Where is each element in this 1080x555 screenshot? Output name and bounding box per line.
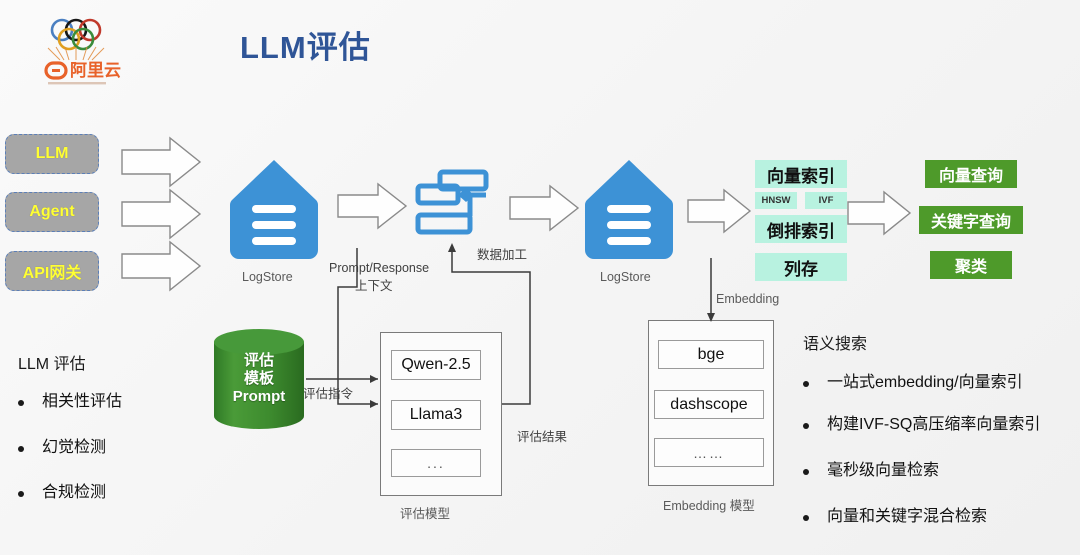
- arrow-to-logstore-out-icon: [508, 184, 580, 232]
- index-box-vector[interactable]: 向量索引: [755, 160, 847, 188]
- embedding-model-item-more[interactable]: ……: [654, 438, 764, 467]
- semantic-search-bullet-0: 一站式embedding/向量索引: [803, 373, 1023, 392]
- context-label: 上下文: [355, 275, 393, 294]
- index-sub-label: HNSW: [761, 195, 790, 206]
- query-box-keyword-search[interactable]: 关键字查询: [919, 206, 1023, 234]
- source-label: LLM: [36, 145, 69, 163]
- eval-model-label: Llama3: [410, 406, 462, 424]
- llm-eval-bullet-text: 合规检测: [42, 483, 106, 502]
- query-label: 关键字查询: [931, 208, 1011, 232]
- index-label: 列存: [784, 255, 818, 280]
- index-sub-box-ivf[interactable]: IVF: [805, 192, 847, 209]
- arrow-to-indexes-icon: [686, 188, 752, 234]
- logstore-in-house-icon: [228, 158, 320, 262]
- arrow-to-queries-icon: [846, 190, 912, 236]
- bullet-dot-icon: [18, 491, 24, 497]
- bullet-dot-icon: [803, 381, 809, 387]
- bullet-dot-icon: [803, 515, 809, 521]
- bullet-dot-icon: [803, 423, 809, 429]
- bullet-dot-icon: [18, 446, 24, 452]
- semantic-search-bullet-text: 毫秒级向量检索: [827, 461, 939, 480]
- page-title: LLM评估: [240, 22, 371, 67]
- semantic-search-heading: 语义搜索: [803, 330, 867, 354]
- eval-instruction-label: 评估指令: [303, 383, 353, 402]
- index-box-inverted[interactable]: 倒排索引: [755, 215, 847, 243]
- data-processing-icon: [412, 168, 492, 245]
- embedding-model-label: dashscope: [670, 396, 747, 414]
- eval-model-item-qwen[interactable]: Qwen-2.5: [391, 350, 481, 380]
- source-label: API网关: [23, 259, 82, 283]
- embedding-model-label: bge: [698, 346, 725, 364]
- bullet-dot-icon: [803, 469, 809, 475]
- llm-eval-bullet-text: 相关性评估: [42, 392, 122, 411]
- embedding-label: Embedding: [716, 292, 779, 306]
- embedding-model-item-bge[interactable]: bge: [658, 340, 764, 369]
- source-box-agent[interactable]: Agent: [5, 192, 99, 232]
- llm-eval-heading: LLM 评估: [18, 350, 86, 374]
- semantic-search-bullet-text: 向量和关键字混合检索: [827, 507, 987, 526]
- source-box-llm[interactable]: LLM: [5, 134, 99, 174]
- source-label: Agent: [29, 203, 74, 221]
- semantic-search-bullet-1: 构建IVF-SQ高压缩率向量索引: [803, 415, 1040, 434]
- ingress-arrow-3-icon: [120, 240, 202, 292]
- semantic-search-bullet-text: 构建IVF-SQ高压缩率向量索引: [827, 415, 1040, 434]
- svg-text:阿里云: 阿里云: [70, 61, 121, 81]
- eval-model-label: Qwen-2.5: [401, 356, 470, 374]
- eval-result-label: 评估结果: [517, 426, 567, 445]
- index-sub-label: IVF: [819, 195, 834, 206]
- eval-model-caption: 评估模型: [400, 503, 450, 522]
- ingress-arrow-2-icon: [120, 188, 202, 240]
- arrow-to-processing-icon: [336, 182, 408, 230]
- embedding-model-caption: Embedding 模型: [663, 495, 755, 514]
- semantic-search-bullet-text: 一站式embedding/向量索引: [827, 373, 1023, 392]
- query-box-clustering[interactable]: 聚类: [930, 251, 1012, 279]
- slide-canvas: 阿里云 LLM评估 LLM Agent API网关: [0, 0, 1080, 555]
- wire-arrowhead: [370, 375, 378, 383]
- query-label: 聚类: [955, 253, 987, 277]
- llm-eval-bullet-2: 合规检测: [18, 483, 106, 502]
- semantic-search-bullet-3: 向量和关键字混合检索: [803, 507, 987, 526]
- logstore-out-caption: LogStore: [600, 270, 651, 284]
- llm-eval-bullet-0: 相关性评估: [18, 392, 122, 411]
- semantic-search-bullet-2: 毫秒级向量检索: [803, 461, 939, 480]
- query-box-vector-search[interactable]: 向量查询: [925, 160, 1017, 188]
- index-box-columnar[interactable]: 列存: [755, 253, 847, 281]
- logstore-out-house-icon: [583, 158, 675, 262]
- alibaba-cloud-olympic-rings-logo: 阿里云: [38, 14, 134, 90]
- eval-model-item-more[interactable]: ...: [391, 449, 481, 477]
- embedding-model-label: ……: [693, 445, 725, 461]
- embedding-model-item-dashscope[interactable]: dashscope: [654, 390, 764, 419]
- llm-eval-bullet-text: 幻觉检测: [42, 438, 106, 457]
- index-label: 向量索引: [767, 162, 835, 187]
- query-label: 向量查询: [939, 162, 1003, 186]
- llm-eval-bullet-1: 幻觉检测: [18, 438, 106, 457]
- source-box-api-gateway[interactable]: API网关: [5, 251, 99, 291]
- index-sub-box-hnsw[interactable]: HNSW: [755, 192, 797, 209]
- index-label: 倒排索引: [767, 217, 835, 242]
- eval-model-item-llama3[interactable]: Llama3: [391, 400, 481, 430]
- prompt-template-cylinder[interactable]: 评估 模板 Prompt: [212, 328, 306, 430]
- ingress-arrow-1-icon: [120, 136, 202, 188]
- bullet-dot-icon: [18, 400, 24, 406]
- prompt-response-label: Prompt/Response: [329, 261, 429, 275]
- eval-model-label: ...: [427, 455, 445, 471]
- logstore-in-caption: LogStore: [242, 270, 293, 284]
- data-processing-label: 数据加工: [477, 244, 527, 263]
- wire-arrowhead: [370, 400, 378, 408]
